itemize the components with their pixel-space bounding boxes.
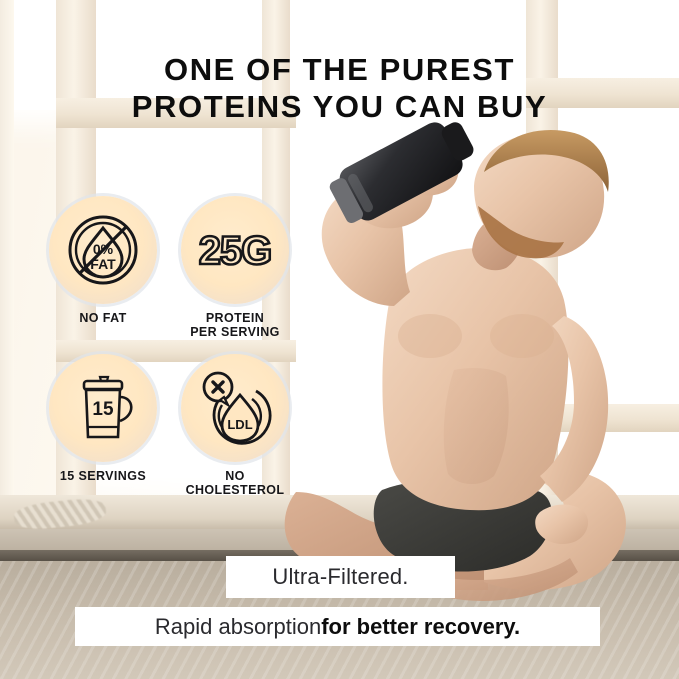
callout-bottom-plain: Rapid absorption [155,614,321,640]
protein-grams-icon: 25G [192,220,278,280]
badge-disc: 25G [181,196,289,304]
model-photo [278,120,679,620]
callout-rapid-absorption: Rapid absorption for better recovery. [75,607,600,646]
badge-label: NO FAT [79,311,126,325]
badge-label: PROTEIN PER SERVING [190,311,280,340]
badge-label: NO CHOLESTEROL [186,469,285,498]
headline-line-2: PROTEINS YOU CAN BUY [0,89,679,126]
badge-no-cholesterol: LDL NO CHOLESTEROL [176,354,294,498]
badge-disc: 0% FAT [49,196,157,304]
headline-line-1: ONE OF THE PUREST [164,52,515,87]
badge-label: 15 SERVINGS [60,469,146,483]
ldl-text: LDL [227,417,252,432]
badge-disc: LDL [181,354,289,462]
badge-disc: 15 [49,354,157,462]
chest-shadow [398,314,462,358]
badge-protein-per-serving: 25G PROTEIN PER SERVING [176,196,294,340]
badge-row: 0% FAT NO FAT 25G PROTEIN PER SERVING [44,196,294,340]
benefit-badge-grid: 0% FAT NO FAT 25G PROTEIN PER SERVING [44,196,294,512]
callout-bottom-strong: for better recovery. [321,614,520,640]
badge-row: 15 15 SERVINGS LDL [44,354,294,498]
protein-grams-text: 25G [199,229,272,273]
badge-no-fat: 0% FAT NO FAT [44,196,162,340]
svg-text:FAT: FAT [90,256,116,272]
callout-top-text: Ultra-Filtered. [272,564,408,590]
headline: ONE OF THE PUREST PROTEINS YOU CAN BUY [0,52,679,125]
callout-ultra-filtered: Ultra-Filtered. [226,556,455,598]
promo-image: ONE OF THE PUREST PROTEINS YOU CAN BUY 0… [0,0,679,679]
no-fat-droplet-icon: 0% FAT [62,209,144,291]
no-cholesterol-ldl-icon: LDL [194,367,276,449]
svg-text:0%: 0% [93,241,114,257]
badge-15-servings: 15 15 SERVINGS [44,354,162,498]
shaker-cup-icon: 15 [62,367,144,449]
servings-count-text: 15 [92,399,114,420]
chest-shadow [490,314,554,358]
